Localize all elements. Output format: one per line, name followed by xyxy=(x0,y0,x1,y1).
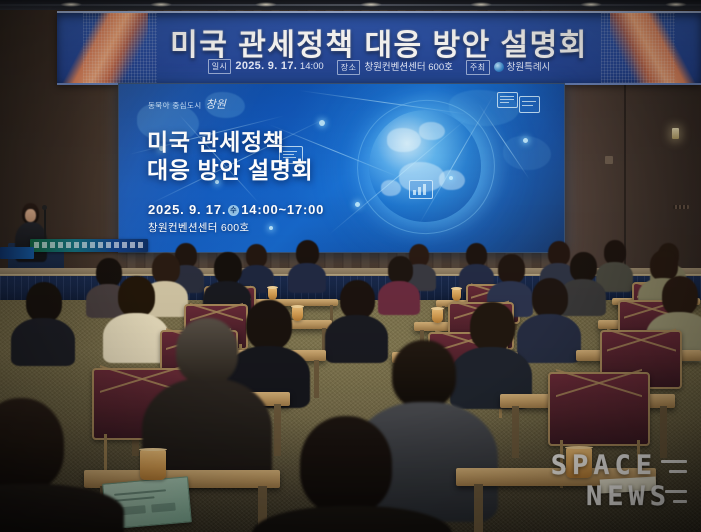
screen-date: 2025. 9. 17. xyxy=(148,202,226,217)
screen-place: 창원컨벤션센터 600호 xyxy=(148,220,249,235)
paper-cup xyxy=(268,288,277,300)
network-node-icon xyxy=(523,138,528,143)
desk-leg xyxy=(512,406,519,458)
paper-cup xyxy=(452,289,461,301)
paper-cup xyxy=(566,448,592,478)
mail-badge-icon xyxy=(497,92,518,108)
banner-meta-place: 장소창원컨벤션센터 600호 xyxy=(337,59,453,75)
chart-badge-icon xyxy=(409,180,433,199)
desk-leg xyxy=(314,360,319,398)
wall-vent xyxy=(673,205,689,209)
banner-meta-date-tag: 일시 xyxy=(208,59,232,74)
ceiling-light xyxy=(665,2,687,7)
wall-plate xyxy=(605,156,613,164)
mail-badge-icon xyxy=(519,96,540,113)
screen-date-line: 2025. 9. 17.수14:00~17:00 xyxy=(148,202,324,217)
ceiling-light xyxy=(255,2,277,7)
screen-title: 미국 관세정책 대응 방안 설명회 xyxy=(147,128,313,184)
ceiling-light xyxy=(580,2,602,7)
banner-meta-place-value: 창원컨벤션센터 600호 xyxy=(364,62,452,73)
side-sign xyxy=(0,247,34,259)
banner-meta-date-value: 2025. 9. 17. xyxy=(235,61,297,73)
network-node-icon xyxy=(269,226,273,230)
network-node-icon xyxy=(449,176,453,180)
banner-meta-host: 주최창원특례시 xyxy=(466,59,550,75)
handout-paper xyxy=(600,477,657,494)
city-emblem-icon xyxy=(494,62,504,72)
screen-slogan-brush: 창원 xyxy=(206,99,226,111)
screen-time: 14:00~17:00 xyxy=(241,202,324,217)
wall-sconce-light xyxy=(672,128,679,139)
presenter-face xyxy=(25,209,36,222)
screen-slogan: 동북아 중심도시창원 xyxy=(148,96,226,112)
microphone-icon xyxy=(42,205,47,210)
paper-cup xyxy=(140,450,166,480)
screen-day-mark: 수 xyxy=(228,205,239,216)
overhead-banner: 미국 관세정책 대응 방안 설명회 일시2025. 9. 17. 14:00 장… xyxy=(57,11,701,85)
desk-leg xyxy=(474,484,483,532)
screen-title-line2: 대응 방안 설명회 xyxy=(147,156,313,184)
banner-meta-date: 일시2025. 9. 17. 14:00 xyxy=(208,59,324,74)
paper-cup xyxy=(292,307,303,321)
desk-leg xyxy=(274,404,281,456)
banner-meta-host-value: 창원특례시 xyxy=(507,62,551,73)
projection-screen: 동북아 중심도시창원 미국 관세정책 대응 방안 설명회 2025. 9. 17… xyxy=(118,83,565,253)
banner-meta-place-tag: 장소 xyxy=(337,60,361,75)
paper-cup xyxy=(432,309,443,323)
network-node-icon xyxy=(319,120,325,126)
banner-meta-date-time: 14:00 xyxy=(300,62,324,73)
banner-subtitle: 일시2025. 9. 17. 14:00 장소창원컨벤션센터 600호 주최창원… xyxy=(57,59,701,75)
globe-icon xyxy=(369,110,481,222)
banner-meta-host-tag: 주최 xyxy=(466,60,490,75)
screen-title-line1: 미국 관세정책 xyxy=(147,128,313,156)
screen-slogan-prefix: 동북아 중심도시 xyxy=(148,101,202,110)
conference-photo: 미국 관세정책 대응 방안 설명회 일시2025. 9. 17. 14:00 장… xyxy=(0,0,701,532)
ceiling-light xyxy=(360,2,382,7)
ceiling-light xyxy=(470,2,492,7)
network-node-icon xyxy=(355,202,360,207)
lectern-sign xyxy=(30,239,148,252)
chair xyxy=(548,372,650,446)
banner-title: 미국 관세정책 대응 방안 설명회 xyxy=(57,20,701,64)
ceiling-light xyxy=(150,2,172,7)
ceiling-light xyxy=(60,2,82,7)
desk-leg xyxy=(660,406,667,458)
lectern-sign-text xyxy=(34,242,144,248)
